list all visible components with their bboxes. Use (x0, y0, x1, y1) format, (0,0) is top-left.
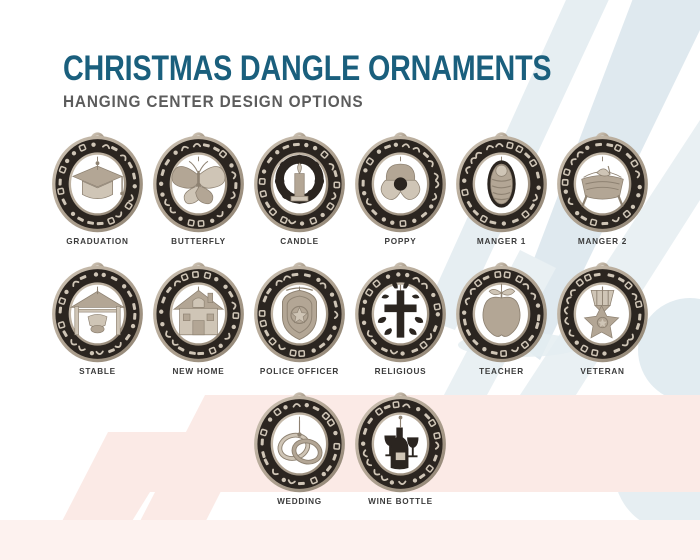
header: CHRISTMAS DANGLE ORNAMENTS HANGING CENTE… (63, 52, 659, 111)
wedding-rings-icon[interactable] (249, 392, 350, 496)
butterfly-icon[interactable] (148, 132, 249, 236)
ornament-label: VETERAN (580, 367, 624, 376)
cross-icon[interactable] (350, 262, 451, 366)
poppy-flower-icon[interactable] (350, 132, 451, 236)
ornament-graphic (47, 262, 148, 366)
wine-bottle-glasses-icon[interactable] (350, 392, 451, 496)
ornament-graphic (552, 262, 653, 366)
ornament-card[interactable]: NEW HOME (148, 262, 249, 376)
ornament-graphic (350, 132, 451, 236)
ornament-row-3: WEDDING (0, 392, 700, 506)
ornament-label: RELIGIOUS (375, 367, 427, 376)
page-subtitle: HANGING CENTER DESIGN OPTIONS (63, 93, 617, 111)
ornament-card[interactable]: POPPY (350, 132, 451, 246)
ornament-graphic (249, 392, 350, 496)
ornament-graphic (148, 132, 249, 236)
ornament-graphic (451, 132, 552, 236)
ornament-label: CANDLE (280, 237, 319, 246)
ornament-label: WINE BOTTLE (368, 497, 433, 506)
ornament-label: MANGER 1 (477, 237, 526, 246)
military-medal-icon[interactable] (552, 262, 653, 366)
ornament-card[interactable]: STABLE (47, 262, 148, 376)
ornament-graphic (148, 262, 249, 366)
graduation-cap-icon[interactable] (47, 132, 148, 236)
ornament-label: POPPY (385, 237, 417, 246)
ornament-card[interactable]: CANDLE (249, 132, 350, 246)
ornament-card[interactable]: MANGER 1 (451, 132, 552, 246)
ornament-label: GRADUATION (66, 237, 128, 246)
nativity-stable-icon[interactable] (47, 262, 148, 366)
apple-icon[interactable] (451, 262, 552, 366)
ornament-graphic (350, 262, 451, 366)
ornament-graphic (47, 132, 148, 236)
candle-wreath-icon[interactable] (249, 132, 350, 236)
ornament-graphic (552, 132, 653, 236)
ornament-label: TEACHER (479, 367, 524, 376)
poster-canvas: CHRISTMAS DANGLE ORNAMENTS HANGING CENTE… (0, 0, 700, 560)
ornament-card[interactable]: MANGER 2 (552, 132, 653, 246)
ornament-graphic (249, 132, 350, 236)
swaddled-baby-icon[interactable] (451, 132, 552, 236)
ornament-label: MANGER 2 (578, 237, 627, 246)
ornament-card[interactable]: TEACHER (451, 262, 552, 376)
ornament-card[interactable]: VETERAN (552, 262, 653, 376)
ornament-label: NEW HOME (173, 367, 225, 376)
ornament-graphic (451, 262, 552, 366)
ornament-card[interactable]: WEDDING (249, 392, 350, 506)
ornament-card[interactable]: WINE BOTTLE (350, 392, 451, 506)
center-motif (487, 160, 515, 207)
ornament-label: WEDDING (277, 497, 322, 506)
ornament-row-1: GRADUATION (0, 132, 700, 246)
ornament-card[interactable]: POLICE OFFICER (249, 262, 350, 376)
police-badge-icon[interactable] (249, 262, 350, 366)
ornament-card[interactable]: RELIGIOUS (350, 262, 451, 376)
manger-crib-icon[interactable] (552, 132, 653, 236)
center-motif (282, 288, 316, 340)
ornament-label: POLICE OFFICER (260, 367, 339, 376)
ornament-card[interactable]: GRADUATION (47, 132, 148, 246)
ornament-label: STABLE (79, 367, 116, 376)
ornament-label: BUTTERFLY (171, 237, 226, 246)
house-icon[interactable] (148, 262, 249, 366)
ornament-card[interactable]: BUTTERFLY (148, 132, 249, 246)
ornament-row-2: STABLE (0, 262, 700, 376)
ornament-graphic (249, 262, 350, 366)
ornament-graphic (350, 392, 451, 496)
page-title: CHRISTMAS DANGLE ORNAMENTS (63, 52, 551, 86)
